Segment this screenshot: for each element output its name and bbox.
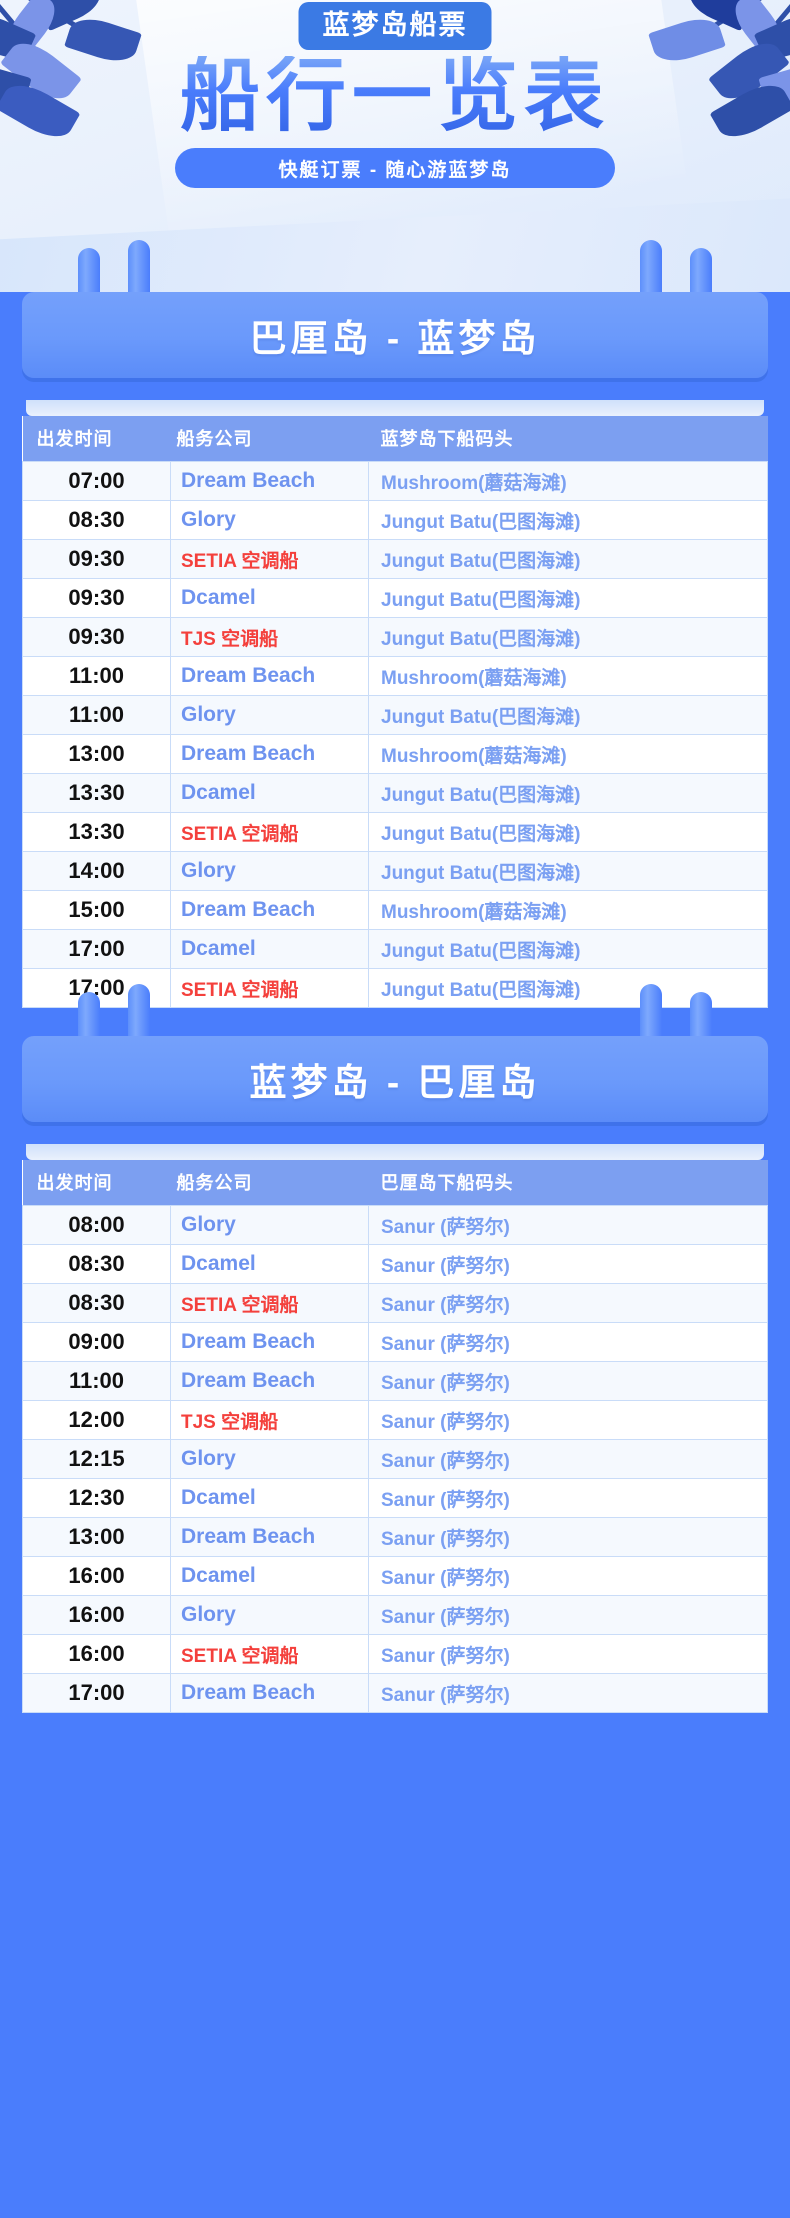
cell-dock: Sanur (萨努尔) xyxy=(369,1440,768,1479)
section-bali-to-lembongan: 巴厘岛 - 蓝梦岛 出发时间 船务公司 蓝梦岛下船码头 07:00Dream B… xyxy=(0,292,790,1008)
schedule-table-2-wrapper: 出发时间 船务公司 巴厘岛下船码头 08:00GlorySanur (萨努尔)0… xyxy=(22,1144,768,1713)
cell-dock: Sanur (萨努尔) xyxy=(369,1674,768,1713)
cell-company: Dcamel xyxy=(171,1479,369,1518)
column-header-departure-time: 出发时间 xyxy=(23,416,171,462)
hero-badge: 蓝梦岛船票 xyxy=(299,2,492,50)
section-banner-label: 蓝梦岛 - 巴厘岛 xyxy=(250,1052,541,1106)
cell-company: Dream Beach xyxy=(171,1323,369,1362)
table-row: 16:00DcamelSanur (萨努尔) xyxy=(23,1557,768,1596)
cell-dock: Sanur (萨努尔) xyxy=(369,1479,768,1518)
column-header-departure-time: 出发时间 xyxy=(23,1160,171,1206)
table-top-cap xyxy=(26,1144,764,1160)
cell-company: Dream Beach xyxy=(171,1674,369,1713)
cell-departure-time: 08:30 xyxy=(23,1284,171,1323)
table-body-1: 07:00Dream BeachMushroom(蘑菇海滩)08:30Glory… xyxy=(23,462,768,1008)
cell-company: Dcamel xyxy=(171,1557,369,1596)
table-row: 11:00GloryJungut Batu(巴图海滩) xyxy=(23,696,768,735)
cell-dock: Jungut Batu(巴图海滩) xyxy=(369,774,768,813)
cell-company: Glory xyxy=(171,1206,369,1245)
cell-dock: Sanur (萨努尔) xyxy=(369,1245,768,1284)
table-row: 11:00Dream BeachSanur (萨努尔) xyxy=(23,1362,768,1401)
cell-dock: Sanur (萨努尔) xyxy=(369,1206,768,1245)
table-row: 15:00Dream BeachMushroom(蘑菇海滩) xyxy=(23,891,768,930)
cell-company: Dcamel xyxy=(171,1245,369,1284)
cell-company: SETIA 空调船 xyxy=(171,1284,369,1323)
table-header-row: 出发时间 船务公司 巴厘岛下船码头 xyxy=(23,1160,768,1206)
cell-company: SETIA 空调船 xyxy=(171,540,369,579)
cell-dock: Sanur (萨努尔) xyxy=(369,1284,768,1323)
table-row: 09:30DcamelJungut Batu(巴图海滩) xyxy=(23,579,768,618)
cell-departure-time: 11:00 xyxy=(23,1362,171,1401)
cell-departure-time: 09:30 xyxy=(23,618,171,657)
cell-company: Dream Beach xyxy=(171,1362,369,1401)
cell-company: Dcamel xyxy=(171,930,369,969)
table-row: 07:00Dream BeachMushroom(蘑菇海滩) xyxy=(23,462,768,501)
table-row: 12:30DcamelSanur (萨努尔) xyxy=(23,1479,768,1518)
hero-diagonal-band xyxy=(0,172,790,292)
cell-departure-time: 09:30 xyxy=(23,540,171,579)
table-row: 08:00GlorySanur (萨努尔) xyxy=(23,1206,768,1245)
column-header-dock: 巴厘岛下船码头 xyxy=(369,1160,768,1206)
table-row: 14:00GloryJungut Batu(巴图海滩) xyxy=(23,852,768,891)
cell-company: Glory xyxy=(171,696,369,735)
cell-company: TJS 空调船 xyxy=(171,1401,369,1440)
cell-departure-time: 13:30 xyxy=(23,774,171,813)
cell-dock: Sanur (萨努尔) xyxy=(369,1323,768,1362)
cell-departure-time: 16:00 xyxy=(23,1635,171,1674)
cell-departure-time: 15:00 xyxy=(23,891,171,930)
cell-departure-time: 08:30 xyxy=(23,1245,171,1284)
cell-departure-time: 08:00 xyxy=(23,1206,171,1245)
table-row: 09:00Dream BeachSanur (萨努尔) xyxy=(23,1323,768,1362)
schedule-table-1-wrapper: 出发时间 船务公司 蓝梦岛下船码头 07:00Dream BeachMushro… xyxy=(22,400,768,1008)
table-row: 17:00Dream BeachSanur (萨努尔) xyxy=(23,1674,768,1713)
poster-page: 蓝梦岛船票 船行一览表 快艇订票 - 随心游蓝梦岛 巴厘岛 - 蓝梦岛 xyxy=(0,0,790,2218)
table-row: 16:00GlorySanur (萨努尔) xyxy=(23,1596,768,1635)
hero-badge-label: 蓝梦岛船票 xyxy=(323,11,468,39)
cell-departure-time: 13:00 xyxy=(23,1518,171,1557)
cell-dock: Sanur (萨努尔) xyxy=(369,1401,768,1440)
schedule-table-2: 出发时间 船务公司 巴厘岛下船码头 08:00GlorySanur (萨努尔)0… xyxy=(22,1160,768,1713)
table-row: 08:30SETIA 空调船Sanur (萨努尔) xyxy=(23,1284,768,1323)
cell-dock: Sanur (萨努尔) xyxy=(369,1635,768,1674)
cell-dock: Mushroom(蘑菇海滩) xyxy=(369,891,768,930)
table-row: 16:00SETIA 空调船Sanur (萨努尔) xyxy=(23,1635,768,1674)
section-lembongan-to-bali: 蓝梦岛 - 巴厘岛 出发时间 船务公司 巴厘岛下船码头 08:00GlorySa… xyxy=(0,1036,790,1713)
table-row: 09:30TJS 空调船Jungut Batu(巴图海滩) xyxy=(23,618,768,657)
cell-dock: Jungut Batu(巴图海滩) xyxy=(369,930,768,969)
table-row: 11:00Dream BeachMushroom(蘑菇海滩) xyxy=(23,657,768,696)
cell-departure-time: 16:00 xyxy=(23,1557,171,1596)
cell-company: Glory xyxy=(171,1440,369,1479)
cell-departure-time: 09:30 xyxy=(23,579,171,618)
section-banner-2: 蓝梦岛 - 巴厘岛 xyxy=(22,1036,768,1122)
table-row: 08:30DcamelSanur (萨努尔) xyxy=(23,1245,768,1284)
cell-dock: Sanur (萨努尔) xyxy=(369,1518,768,1557)
cell-company: Dream Beach xyxy=(171,657,369,696)
cell-dock: Jungut Batu(巴图海滩) xyxy=(369,540,768,579)
cell-departure-time: 08:30 xyxy=(23,501,171,540)
cell-dock: Mushroom(蘑菇海滩) xyxy=(369,657,768,696)
cell-departure-time: 13:00 xyxy=(23,735,171,774)
hero-subtitle-text: 快艇订票 - 随心游蓝梦岛 xyxy=(279,155,512,182)
table-row: 08:30GloryJungut Batu(巴图海滩) xyxy=(23,501,768,540)
hero-banner: 蓝梦岛船票 船行一览表 快艇订票 - 随心游蓝梦岛 xyxy=(0,0,790,292)
cell-company: Glory xyxy=(171,1596,369,1635)
cell-departure-time: 11:00 xyxy=(23,696,171,735)
cell-dock: Jungut Batu(巴图海滩) xyxy=(369,696,768,735)
cell-departure-time: 07:00 xyxy=(23,462,171,501)
table-row: 12:15GlorySanur (萨努尔) xyxy=(23,1440,768,1479)
cell-company: SETIA 空调船 xyxy=(171,813,369,852)
table-row: 12:00TJS 空调船Sanur (萨努尔) xyxy=(23,1401,768,1440)
table-body-2: 08:00GlorySanur (萨努尔)08:30DcamelSanur (萨… xyxy=(23,1206,768,1713)
table-row: 17:00SETIA 空调船Jungut Batu(巴图海滩) xyxy=(23,969,768,1008)
table-header-row: 出发时间 船务公司 蓝梦岛下船码头 xyxy=(23,416,768,462)
cell-company: Dream Beach xyxy=(171,462,369,501)
table-top-cap xyxy=(26,400,764,416)
cell-company: Dcamel xyxy=(171,579,369,618)
cell-departure-time: 12:15 xyxy=(23,1440,171,1479)
cell-departure-time: 17:00 xyxy=(23,969,171,1008)
table-row: 09:30SETIA 空调船Jungut Batu(巴图海滩) xyxy=(23,540,768,579)
column-header-dock: 蓝梦岛下船码头 xyxy=(369,416,768,462)
cell-dock: Jungut Batu(巴图海滩) xyxy=(369,501,768,540)
cell-company: Glory xyxy=(171,852,369,891)
cell-dock: Sanur (萨努尔) xyxy=(369,1596,768,1635)
cell-company: Dcamel xyxy=(171,774,369,813)
cell-company: SETIA 空调船 xyxy=(171,969,369,1008)
cell-company: TJS 空调船 xyxy=(171,618,369,657)
cell-dock: Sanur (萨努尔) xyxy=(369,1557,768,1596)
cell-company: Dream Beach xyxy=(171,735,369,774)
table-row: 13:00Dream BeachSanur (萨努尔) xyxy=(23,1518,768,1557)
cell-dock: Jungut Batu(巴图海滩) xyxy=(369,852,768,891)
cell-departure-time: 17:00 xyxy=(23,930,171,969)
table-row: 17:00DcamelJungut Batu(巴图海滩) xyxy=(23,930,768,969)
cell-dock: Mushroom(蘑菇海滩) xyxy=(369,735,768,774)
table-head: 出发时间 船务公司 巴厘岛下船码头 xyxy=(23,1160,768,1206)
cell-dock: Jungut Batu(巴图海滩) xyxy=(369,969,768,1008)
cell-dock: Sanur (萨努尔) xyxy=(369,1362,768,1401)
cell-departure-time: 12:30 xyxy=(23,1479,171,1518)
cell-company: Dream Beach xyxy=(171,891,369,930)
table-head: 出发时间 船务公司 蓝梦岛下船码头 xyxy=(23,416,768,462)
schedule-table-1: 出发时间 船务公司 蓝梦岛下船码头 07:00Dream BeachMushro… xyxy=(22,416,768,1008)
cell-dock: Mushroom(蘑菇海滩) xyxy=(369,462,768,501)
cell-company: Dream Beach xyxy=(171,1518,369,1557)
cell-departure-time: 12:00 xyxy=(23,1401,171,1440)
section-banner-1: 巴厘岛 - 蓝梦岛 xyxy=(22,292,768,378)
cell-company: Glory xyxy=(171,501,369,540)
cell-dock: Jungut Batu(巴图海滩) xyxy=(369,813,768,852)
cell-departure-time: 14:00 xyxy=(23,852,171,891)
hero-subtitle-pill: 快艇订票 - 随心游蓝梦岛 xyxy=(175,148,615,188)
column-header-company: 船务公司 xyxy=(171,416,369,462)
cell-dock: Jungut Batu(巴图海滩) xyxy=(369,579,768,618)
page-title-text: 船行一览表 xyxy=(180,56,610,136)
cell-departure-time: 13:30 xyxy=(23,813,171,852)
cell-departure-time: 09:00 xyxy=(23,1323,171,1362)
table-row: 13:30DcamelJungut Batu(巴图海滩) xyxy=(23,774,768,813)
section-banner-label: 巴厘岛 - 蓝梦岛 xyxy=(250,308,541,362)
cell-departure-time: 17:00 xyxy=(23,1674,171,1713)
cell-departure-time: 11:00 xyxy=(23,657,171,696)
table-row: 13:30SETIA 空调船Jungut Batu(巴图海滩) xyxy=(23,813,768,852)
cell-dock: Jungut Batu(巴图海滩) xyxy=(369,618,768,657)
cell-departure-time: 16:00 xyxy=(23,1596,171,1635)
table-row: 13:00Dream BeachMushroom(蘑菇海滩) xyxy=(23,735,768,774)
cell-company: SETIA 空调船 xyxy=(171,1635,369,1674)
page-title: 船行一览表 xyxy=(0,56,790,136)
column-header-company: 船务公司 xyxy=(171,1160,369,1206)
